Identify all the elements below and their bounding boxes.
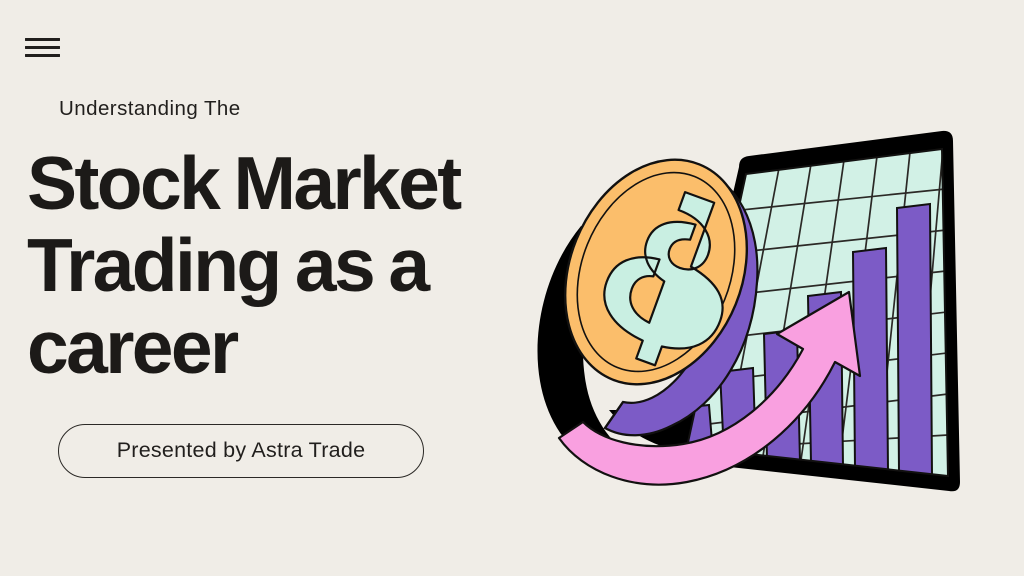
presented-by-label: Presented by Astra Trade	[117, 440, 366, 462]
headline-line-1: Stock Market	[27, 142, 557, 224]
presented-by-button[interactable]: Presented by Astra Trade	[58, 424, 424, 478]
hero-text-block: Understanding The Stock Market Trading a…	[0, 0, 560, 576]
headline-line-3: career	[27, 306, 557, 388]
growth-chart-illustration	[505, 110, 975, 510]
slide-canvas: Understanding The Stock Market Trading a…	[0, 0, 1024, 576]
headline-line-2: Trading as a	[27, 224, 557, 306]
page-title: Stock Market Trading as a career	[27, 142, 557, 388]
eyebrow-text: Understanding The	[59, 99, 241, 120]
